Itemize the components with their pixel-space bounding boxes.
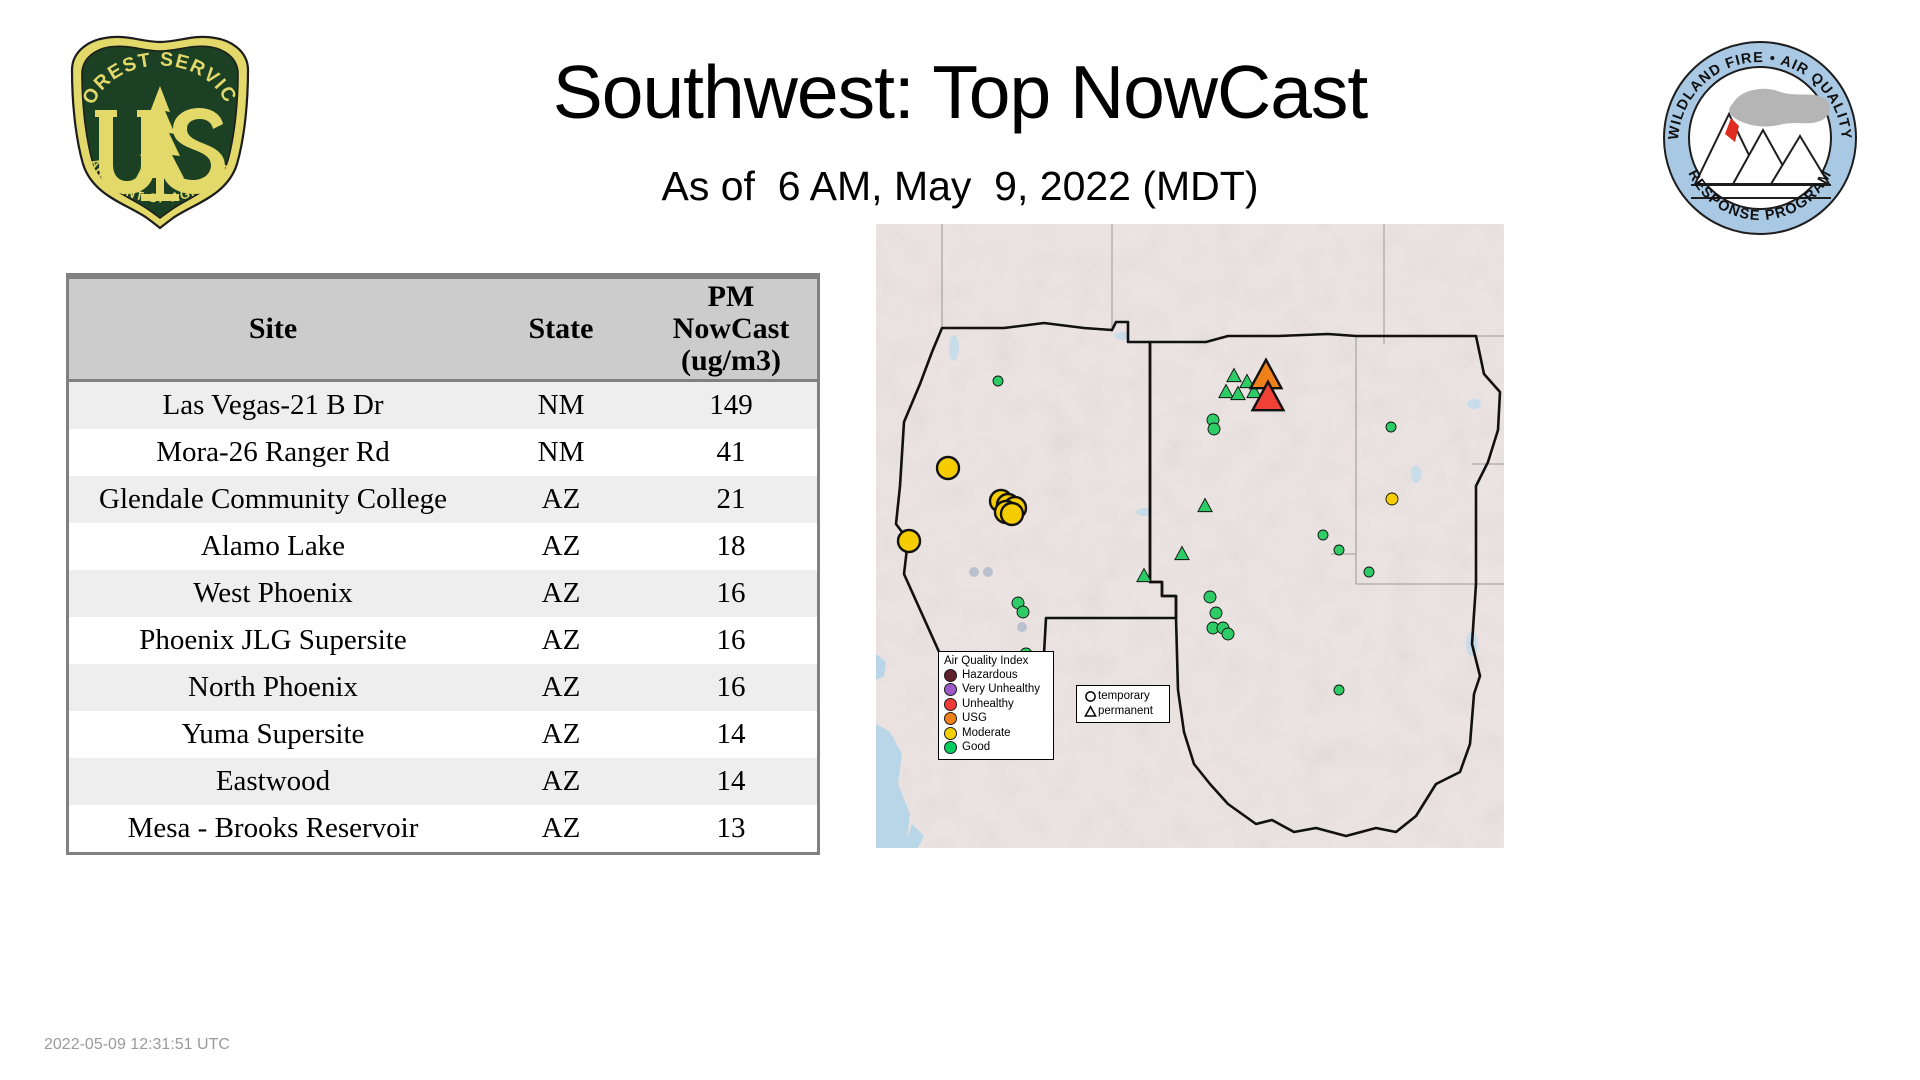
aqi-color-swatch-icon [944, 712, 957, 725]
column-header-site[interactable]: Site [69, 278, 477, 381]
monitor-marker-good[interactable] [1334, 545, 1344, 555]
nowcast-table-container: Site State PM NowCast (ug/m3) Las Vegas-… [66, 273, 820, 855]
monitor-marker-good[interactable] [1334, 685, 1344, 695]
table-cell-site: Alamo Lake [69, 523, 477, 570]
monitor-marker-good[interactable] [1364, 567, 1374, 577]
table-row[interactable]: North PhoenixAZ16 [69, 664, 817, 711]
table-cell-value: 16 [645, 664, 817, 711]
shape-legend-item-temporary: temporary [1082, 689, 1164, 704]
circle-icon [1082, 690, 1098, 703]
monitor-marker-good[interactable] [1204, 591, 1216, 603]
table-cell-value: 13 [645, 805, 817, 852]
monitor-marker-moderate[interactable] [1386, 493, 1398, 505]
aqi-legend-item: Good [944, 741, 1048, 756]
table-header-row: Site State PM NowCast (ug/m3) [69, 278, 817, 381]
usfs-shield-logo: FOREST SERVICE DEPARTMENT OF AGRICULTURE [55, 28, 265, 233]
column-header-pm-line2: NowCast [673, 312, 790, 345]
monitor-marker-good[interactable] [1222, 628, 1234, 640]
table-row[interactable]: Glendale Community CollegeAZ21 [69, 476, 817, 523]
aqi-legend-label: USG [962, 713, 987, 725]
table-row[interactable]: Phoenix JLG SupersiteAZ16 [69, 617, 817, 664]
aqi-legend-item: Very Unhealthy [944, 683, 1048, 698]
table-cell-value: 16 [645, 570, 817, 617]
column-header-pm-nowcast[interactable]: PM NowCast (ug/m3) [645, 278, 817, 381]
table-cell-value: 16 [645, 617, 817, 664]
table-cell-site: Phoenix JLG Supersite [69, 617, 477, 664]
aqi-color-swatch-icon [944, 669, 957, 682]
monitor-marker-moderate[interactable] [898, 530, 920, 552]
generation-timestamp: 2022-05-09 12:31:51 UTC [44, 1036, 230, 1054]
aqi-color-swatch-icon [944, 727, 957, 740]
table-cell-value: 41 [645, 429, 817, 476]
monitor-marker-good[interactable] [993, 376, 1003, 386]
table-row[interactable]: Mesa - Brooks ReservoirAZ13 [69, 805, 817, 852]
shape-legend-item-permanent: permanent [1082, 704, 1164, 719]
monitor-marker-good[interactable] [1386, 422, 1396, 432]
table-cell-value: 14 [645, 758, 817, 805]
triangle-icon [1082, 705, 1098, 718]
table-cell-state: AZ [477, 758, 645, 805]
table-row[interactable]: Yuma SupersiteAZ14 [69, 711, 817, 758]
aqi-legend-label: Good [962, 742, 990, 754]
column-header-state[interactable]: State [477, 278, 645, 381]
monitor-marker-moderate[interactable] [1001, 503, 1023, 525]
aqi-legend-item: Moderate [944, 726, 1048, 741]
southwest-map[interactable]: Air Quality Index HazardousVery Unhealth… [876, 224, 1504, 848]
page-title: Southwest: Top NowCast [300, 55, 1620, 130]
table-cell-value: 14 [645, 711, 817, 758]
aqi-legend-label: Moderate [962, 728, 1011, 740]
aqi-color-swatch-icon [944, 698, 957, 711]
monitor-marker-inactive[interactable] [969, 567, 979, 577]
aqi-legend: Air Quality Index HazardousVery Unhealth… [938, 651, 1054, 760]
monitor-marker-inactive[interactable] [1017, 622, 1027, 632]
page-subtitle: As of 6 AM, May 9, 2022 (MDT) [300, 166, 1620, 207]
table-cell-site: Eastwood [69, 758, 477, 805]
table-cell-state: AZ [477, 523, 645, 570]
table-row[interactable]: Mora-26 Ranger RdNM41 [69, 429, 817, 476]
table-cell-value: 21 [645, 476, 817, 523]
table-cell-site: West Phoenix [69, 570, 477, 617]
table-cell-site: Mora-26 Ranger Rd [69, 429, 477, 476]
wfaqrp-logo: WILDLAND FIRE • AIR QUALITY RESPONSE PRO… [1655, 38, 1865, 238]
table-row[interactable]: West PhoenixAZ16 [69, 570, 817, 617]
table-cell-site: Las Vegas-21 B Dr [69, 381, 477, 430]
shape-legend: temporary permanent [1076, 685, 1170, 723]
table-cell-state: NM [477, 381, 645, 430]
table-cell-value: 18 [645, 523, 817, 570]
monitor-marker-good[interactable] [1208, 423, 1220, 435]
aqi-legend-items: HazardousVery UnhealthyUnhealthyUSGModer… [944, 668, 1048, 755]
table-body: Las Vegas-21 B DrNM149Mora-26 Ranger RdN… [69, 381, 817, 853]
aqi-legend-title: Air Quality Index [944, 655, 1048, 667]
aqi-legend-item: Hazardous [944, 668, 1048, 683]
aqi-color-swatch-icon [944, 683, 957, 696]
table-row[interactable]: Las Vegas-21 B DrNM149 [69, 381, 817, 430]
aqi-legend-label: Unhealthy [962, 699, 1014, 711]
shape-legend-label-permanent: permanent [1098, 706, 1153, 718]
table-cell-site: Yuma Supersite [69, 711, 477, 758]
table-cell-site: Mesa - Brooks Reservoir [69, 805, 477, 852]
table-cell-state: AZ [477, 664, 645, 711]
table-cell-state: NM [477, 429, 645, 476]
table-cell-state: AZ [477, 805, 645, 852]
shape-legend-label-temporary: temporary [1098, 691, 1150, 703]
monitor-marker-moderate[interactable] [937, 457, 959, 479]
table-cell-site: Glendale Community College [69, 476, 477, 523]
aqi-legend-item: Unhealthy [944, 697, 1048, 712]
table-cell-state: AZ [477, 711, 645, 758]
monitor-marker-good[interactable] [1318, 530, 1328, 540]
table-row[interactable]: EastwoodAZ14 [69, 758, 817, 805]
title-block: Southwest: Top NowCast As of 6 AM, May 9… [300, 55, 1620, 207]
aqi-color-swatch-icon [944, 741, 957, 754]
monitor-marker-good[interactable] [1017, 606, 1029, 618]
table-row[interactable]: Alamo LakeAZ18 [69, 523, 817, 570]
aqi-legend-item: USG [944, 712, 1048, 727]
aqi-legend-label: Very Unhealthy [962, 684, 1040, 696]
table-cell-state: AZ [477, 476, 645, 523]
nowcast-table: Site State PM NowCast (ug/m3) Las Vegas-… [69, 276, 817, 852]
column-header-pm-line3: (ug/m3) [681, 344, 781, 377]
monitor-marker-inactive[interactable] [983, 567, 993, 577]
table-cell-site: North Phoenix [69, 664, 477, 711]
table-cell-value: 149 [645, 381, 817, 430]
column-header-pm-line1: PM [708, 280, 755, 313]
table-cell-state: AZ [477, 570, 645, 617]
aqi-legend-label: Hazardous [962, 670, 1018, 682]
table-cell-state: AZ [477, 617, 645, 664]
monitor-marker-good[interactable] [1210, 607, 1222, 619]
table-header: Site State PM NowCast (ug/m3) [69, 278, 817, 381]
